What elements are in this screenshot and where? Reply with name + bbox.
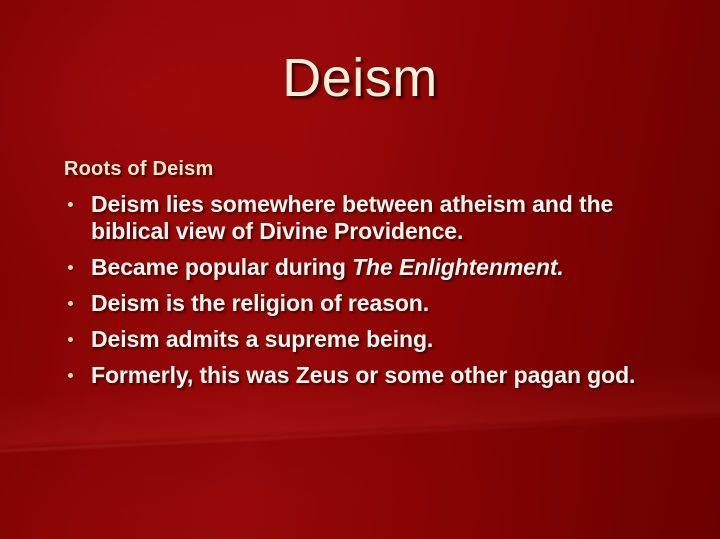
bullet-text-run: Formerly, this was Zeus or some other pa… [91, 362, 635, 388]
bullet-item: Deism admits a supreme being. [62, 326, 684, 353]
bullet-text-run: Deism is the religion of reason. [91, 290, 429, 316]
presentation-slide: Deism Roots of Deism Deism lies somewher… [0, 0, 720, 539]
slide-title: Deism [0, 50, 720, 107]
bullet-text-emphasis: The Enlightenment. [352, 254, 564, 280]
bullet-text: Became popular during The Enlightenment. [91, 254, 564, 280]
bullet-dot-icon [68, 265, 73, 270]
bullet-list: Deism lies somewhere between atheism and… [62, 191, 684, 388]
bullet-text: Formerly, this was Zeus or some other pa… [91, 362, 635, 388]
bullet-item: Deism lies somewhere between atheism and… [62, 191, 684, 245]
bullet-dot-icon [68, 373, 73, 378]
bullet-text-run: Became popular during [91, 254, 352, 280]
bullet-item: Formerly, this was Zeus or some other pa… [62, 362, 684, 389]
bullet-item: Became popular during The Enlightenment. [62, 254, 684, 281]
bullet-text: Deism lies somewhere between atheism and… [91, 191, 613, 244]
bullet-dot-icon [68, 301, 73, 306]
slide-subheading: Roots of Deism [64, 158, 684, 181]
bullet-text: Deism admits a supreme being. [91, 326, 433, 352]
bullet-dot-icon [68, 337, 73, 342]
bullet-text-run: Deism admits a supreme being. [91, 326, 433, 352]
bullet-dot-icon [68, 202, 73, 207]
bullet-text: Deism is the religion of reason. [91, 290, 429, 316]
slide-body: Roots of Deism Deism lies somewhere betw… [62, 158, 684, 397]
bullet-item: Deism is the religion of reason. [62, 290, 684, 317]
bullet-text-run: Deism lies somewhere between atheism and… [91, 191, 613, 244]
background-swoosh-highlight-line [0, 411, 720, 454]
